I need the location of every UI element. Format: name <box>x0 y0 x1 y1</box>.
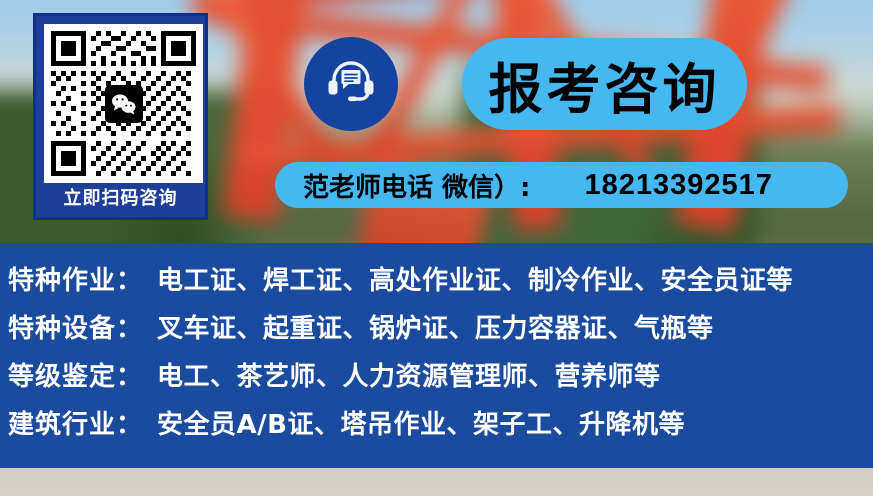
qr-caption: 立即扫码咨询 <box>44 183 197 215</box>
category-row: 特种设备： 叉车证、起重证、锅炉证、压力容器证、气瓶等 <box>0 305 873 353</box>
consult-title-pill[interactable]: 报考咨询 <box>462 38 747 130</box>
phone-number[interactable]: 18213392517 <box>584 169 772 202</box>
category-value: 叉车证、起重证、锅炉证、压力容器证、气瓶等 <box>157 305 714 353</box>
category-row: 等级鉴定： 电工、茶艺师、人力资源管理师、营养师等 <box>0 353 873 401</box>
category-value: 安全员A/B证、塔吊作业、架子工、升降机等 <box>157 401 685 449</box>
qr-code-image[interactable] <box>44 24 203 183</box>
support-badge[interactable] <box>304 37 398 131</box>
category-value: 电工、茶艺师、人力资源管理师、营养师等 <box>157 353 661 401</box>
category-row: 特种作业： 电工证、焊工证、高处作业证、制冷作业、安全员证等 <box>0 257 873 305</box>
certificate-category-panel: 特种作业： 电工证、焊工证、高处作业证、制冷作业、安全员证等 特种设备： 叉车证… <box>0 243 873 468</box>
promo-poster: 立即扫码咨询 <box>0 0 873 496</box>
consult-title-label: 报考咨询 <box>489 45 721 124</box>
headset-support-icon <box>322 53 380 116</box>
contact-phone-pill[interactable]: 范老师电话 微信）: 18213392517 <box>275 162 848 208</box>
category-value: 电工证、焊工证、高处作业证、制冷作业、安全员证等 <box>157 257 793 305</box>
wechat-icon <box>105 85 143 123</box>
qr-code-card[interactable]: 立即扫码咨询 <box>33 13 208 220</box>
category-label: 特种作业： <box>8 257 143 305</box>
contact-label: 范老师电话 微信）: <box>303 167 530 204</box>
category-label: 特种设备： <box>8 305 143 353</box>
category-row: 建筑行业： 安全员A/B证、塔吊作业、架子工、升降机等 <box>0 401 873 449</box>
category-label: 等级鉴定： <box>8 353 143 401</box>
category-label: 建筑行业： <box>8 401 143 449</box>
